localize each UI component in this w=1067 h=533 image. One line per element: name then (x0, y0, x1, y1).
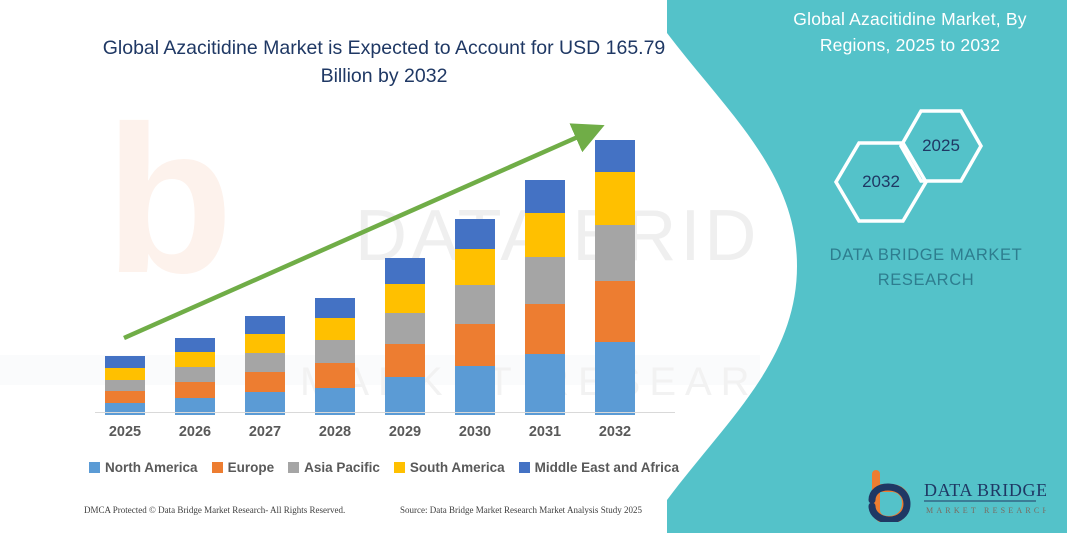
bar-2032[interactable] (595, 140, 635, 415)
chart-legend: North AmericaEuropeAsia PacificSouth Ame… (84, 455, 684, 479)
bar-segment-2026-asia-pacific[interactable] (175, 367, 215, 382)
bar-2031[interactable] (525, 180, 565, 415)
bar-segment-2025-asia-pacific[interactable] (105, 380, 145, 391)
x-axis-label-2028: 2028 (305, 424, 365, 440)
bar-2029[interactable] (385, 258, 425, 415)
bar-segment-2031-asia-pacific[interactable] (525, 257, 565, 304)
panel-brand-text: DATA BRIDGE MARKET RESEARCH (795, 243, 1057, 293)
bar-segment-2030-middle-east-and-africa[interactable] (455, 219, 495, 249)
bar-segment-2032-middle-east-and-africa[interactable] (595, 140, 635, 172)
footer-copyright: DMCA Protected © Data Bridge Market Rese… (84, 505, 345, 515)
bar-segment-2029-north-america[interactable] (385, 377, 425, 415)
bar-segment-2028-south-america[interactable] (315, 318, 355, 340)
x-axis-label-2025: 2025 (95, 424, 155, 440)
bar-2030[interactable] (455, 219, 495, 415)
bar-segment-2029-europe[interactable] (385, 344, 425, 377)
bar-segment-2027-south-america[interactable] (245, 334, 285, 353)
bar-segment-2026-europe[interactable] (175, 382, 215, 398)
legend-swatch-asia-pacific (288, 462, 299, 473)
footer: DMCA Protected © Data Bridge Market Rese… (0, 505, 760, 529)
bar-segment-2028-asia-pacific[interactable] (315, 340, 355, 363)
bar-segment-2032-south-america[interactable] (595, 172, 635, 225)
x-axis-label-2027: 2027 (235, 424, 295, 440)
legend-swatch-north-america (89, 462, 100, 473)
legend-item-middle-east-and-africa[interactable]: Middle East and Africa (519, 460, 679, 475)
hexagon-2032-label: 2032 (862, 172, 900, 192)
legend-label-asia-pacific: Asia Pacific (304, 460, 380, 475)
bar-segment-2027-asia-pacific[interactable] (245, 353, 285, 372)
bar-segment-2032-europe[interactable] (595, 281, 635, 342)
x-axis-label-2031: 2031 (515, 424, 575, 440)
logo-secondary-text: MARKET RESEARCH (926, 506, 1046, 515)
legend-swatch-europe (212, 462, 223, 473)
bar-segment-2028-middle-east-and-africa[interactable] (315, 298, 355, 318)
bar-segment-2031-north-america[interactable] (525, 354, 565, 415)
bar-segment-2030-south-america[interactable] (455, 249, 495, 285)
panel-title: Global Azacitidine Market, By Regions, 2… (760, 6, 1060, 58)
bar-2026[interactable] (175, 338, 215, 415)
x-axis-labels: 20252026202720282029203020312032 (84, 424, 684, 446)
legend-swatch-middle-east-and-africa (519, 462, 530, 473)
legend-swatch-south-america (394, 462, 405, 473)
bar-segment-2027-middle-east-and-africa[interactable] (245, 316, 285, 334)
bar-segment-2028-north-america[interactable] (315, 388, 355, 415)
legend-item-europe[interactable]: Europe (212, 460, 275, 475)
legend-label-north-america: North America (105, 460, 198, 475)
bar-segment-2025-middle-east-and-africa[interactable] (105, 356, 145, 368)
bar-segment-2030-north-america[interactable] (455, 366, 495, 415)
bar-segment-2030-asia-pacific[interactable] (455, 285, 495, 324)
x-axis-label-2030: 2030 (445, 424, 505, 440)
bar-2028[interactable] (315, 298, 355, 415)
bar-segment-2031-europe[interactable] (525, 304, 565, 354)
bar-segment-2032-asia-pacific[interactable] (595, 225, 635, 281)
bar-segment-2032-north-america[interactable] (595, 342, 635, 415)
hexagon-2025-label: 2025 (922, 136, 960, 156)
bar-segment-2031-south-america[interactable] (525, 213, 565, 257)
data-bridge-logo: DATA BRIDGE MARKET RESEARCH (866, 470, 1046, 522)
legend-label-middle-east-and-africa: Middle East and Africa (535, 460, 679, 475)
x-axis-line (95, 412, 675, 413)
bar-segment-2029-asia-pacific[interactable] (385, 313, 425, 344)
legend-label-south-america: South America (410, 460, 505, 475)
hexagon-2025: 2025 (898, 108, 984, 184)
x-axis-label-2029: 2029 (375, 424, 435, 440)
legend-item-south-america[interactable]: South America (394, 460, 505, 475)
bar-segment-2026-south-america[interactable] (175, 352, 215, 367)
x-axis-label-2032: 2032 (585, 424, 645, 440)
bar-segment-2025-north-america[interactable] (105, 403, 145, 415)
legend-item-north-america[interactable]: North America (89, 460, 198, 475)
bar-segment-2028-europe[interactable] (315, 363, 355, 388)
bar-segment-2031-middle-east-and-africa[interactable] (525, 180, 565, 213)
x-axis-label-2026: 2026 (165, 424, 225, 440)
bar-2025[interactable] (105, 356, 145, 415)
logo-primary-text: DATA BRIDGE (924, 480, 1046, 500)
legend-item-asia-pacific[interactable]: Asia Pacific (288, 460, 380, 475)
bar-segment-2027-europe[interactable] (245, 372, 285, 392)
chart-plot-area (84, 120, 684, 415)
bar-segment-2030-europe[interactable] (455, 324, 495, 366)
bar-segment-2029-south-america[interactable] (385, 284, 425, 313)
bar-segment-2025-south-america[interactable] (105, 368, 145, 380)
chart-title: Global Azacitidine Market is Expected to… (84, 34, 684, 90)
bar-segment-2029-middle-east-and-africa[interactable] (385, 258, 425, 284)
footer-source: Source: Data Bridge Market Research Mark… (400, 505, 642, 515)
legend-label-europe: Europe (228, 460, 275, 475)
bar-segment-2026-middle-east-and-africa[interactable] (175, 338, 215, 352)
bar-segment-2025-europe[interactable] (105, 391, 145, 403)
bar-2027[interactable] (245, 316, 285, 415)
